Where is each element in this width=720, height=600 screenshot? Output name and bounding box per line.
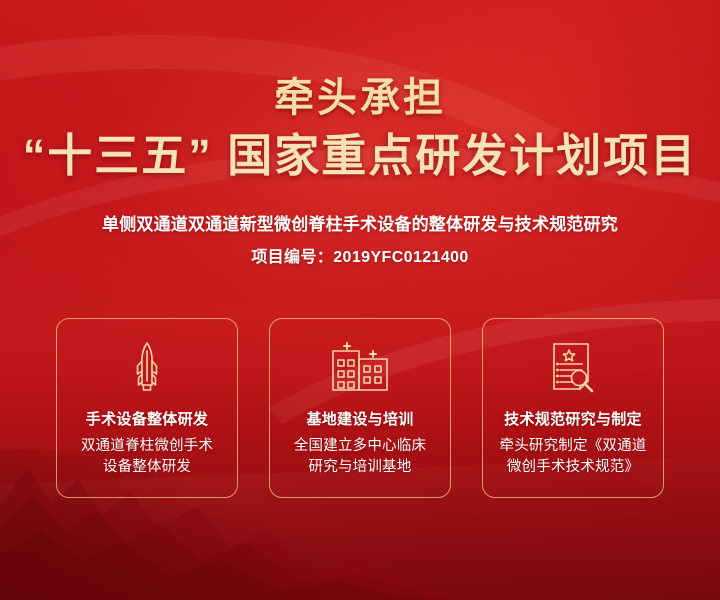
- poster-title: 牵头承担 “十三五” 国家重点研发计划项目: [0, 74, 720, 183]
- feature-card: 手术设备整体研发 双通道脊柱微创手术 设备整体研发: [56, 318, 238, 498]
- project-number: 项目编号：2019YFC0121400: [0, 246, 720, 270]
- feature-card-title: 技术规范研究与制定: [504, 410, 642, 430]
- title-line-1: 牵头承担: [0, 74, 720, 122]
- feature-card-description-line: 设备整体研发: [81, 457, 213, 478]
- feature-card-description-line: 全国建立多中心临床: [294, 436, 426, 457]
- document-magnifier-icon: [548, 341, 598, 393]
- feature-card-description-line: 研究与培训基地: [294, 457, 426, 478]
- poster-subtitle: 单侧双通道双通道新型微创脊柱手术设备的整体研发与技术规范研究: [0, 212, 720, 237]
- feature-card-description: 全国建立多中心临床 研究与培训基地: [286, 436, 434, 478]
- feature-card-list: 手术设备整体研发 双通道脊柱微创手术 设备整体研发: [56, 318, 664, 498]
- feature-card: 基地建设与培训 全国建立多中心临床 研究与培训基地: [269, 318, 451, 498]
- feature-card-description: 牵头研究制定《双通道 微创手术技术规范》: [492, 436, 655, 478]
- feature-card-title: 基地建设与培训: [306, 410, 413, 430]
- feature-card-title: 手术设备整体研发: [86, 410, 208, 430]
- feature-card-description-line: 牵头研究制定《双通道: [500, 436, 647, 457]
- feature-card-description-line: 双通道脊柱微创手术: [81, 436, 213, 457]
- feature-card-description: 双通道脊柱微创手术 设备整体研发: [73, 436, 221, 478]
- feature-card-description-line: 微创手术技术规范》: [500, 457, 647, 478]
- hospital-building-icon: [331, 341, 389, 393]
- feature-card: 技术规范研究与制定 牵头研究制定《双通道 微创手术技术规范》: [482, 318, 664, 498]
- title-line-2: “十三五” 国家重点研发计划项目: [0, 129, 720, 183]
- poster-banner: 牵头承担 “十三五” 国家重点研发计划项目 单侧双通道双通道新型微创脊柱手术设备…: [0, 0, 720, 600]
- rocket-icon: [129, 341, 165, 393]
